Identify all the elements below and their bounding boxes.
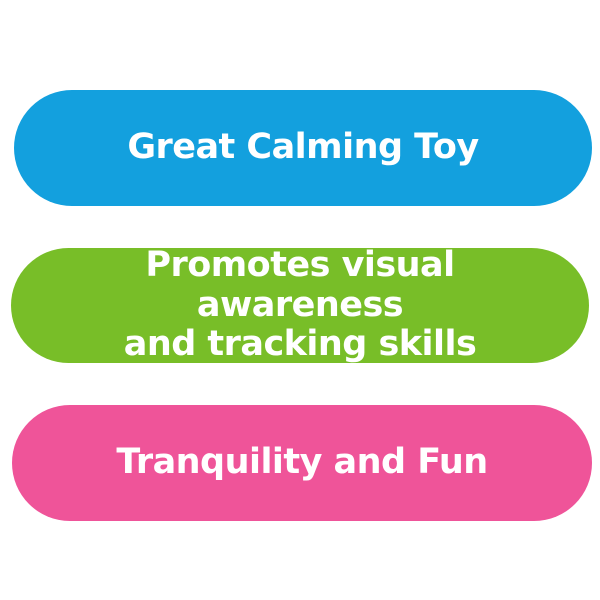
badge-pill-great-calming-toy: Great Calming Toy	[14, 90, 592, 206]
badge-label-great-calming-toy: Great Calming Toy	[101, 129, 504, 167]
badge-label-tranquility-and-fun: Tranquility and Fun	[90, 444, 513, 482]
badge-pill-tranquility-and-fun: Tranquility and Fun	[12, 405, 592, 521]
badge-label-promotes-visual-awareness: Promotes visual awareness and tracking s…	[11, 246, 589, 366]
badge-stack: Great Calming Toy Promotes visual awaren…	[0, 0, 600, 600]
badge-pill-promotes-visual-awareness: Promotes visual awareness and tracking s…	[11, 248, 589, 363]
